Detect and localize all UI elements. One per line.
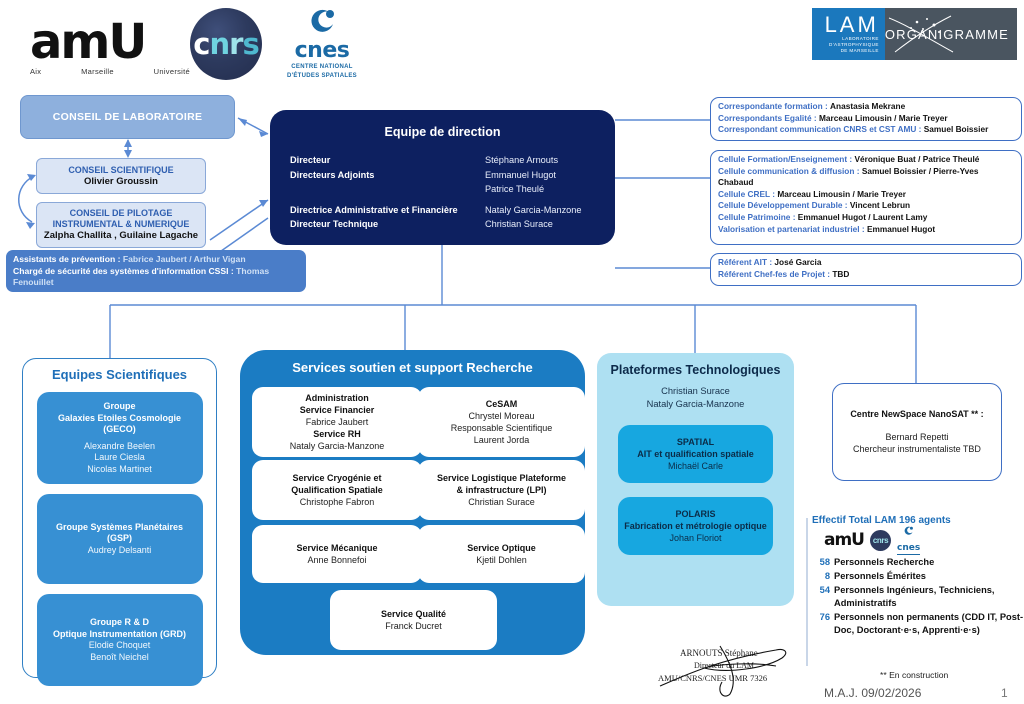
signature-org: AMU/CNRS/CNES UMR 7326 bbox=[658, 673, 767, 683]
referent-value: TBD bbox=[832, 269, 849, 279]
lam-wordmark: LAM bbox=[825, 14, 879, 36]
equipes-scientifiques-box[interactable]: Equipes Scientifiques Groupe Galaxies Et… bbox=[22, 358, 217, 678]
cellule-value: Véronique Buat / Patrice Theulé bbox=[854, 154, 979, 164]
referents-box[interactable]: Référent AIT : José Garcia Référent Chef… bbox=[710, 253, 1022, 286]
service-lpi-card[interactable]: Service Logistique Plateforme & infrastr… bbox=[418, 460, 585, 520]
cnes-logo: cnes CENTRE NATIONAL D'ÉTUDES SPATIALES bbox=[278, 8, 366, 82]
amu-sub-marseille: Marseille bbox=[81, 67, 114, 76]
direction-row: Directeurs AdjointsEmmanuel Hugot bbox=[290, 168, 615, 183]
cellule-row: Cellule Patrimoine : Emmanuel Hugot / La… bbox=[718, 212, 1014, 224]
correspondant-value: Samuel Boissier bbox=[924, 124, 989, 134]
effectif-count: 58 bbox=[812, 556, 830, 569]
lam-subtitle-1: LABORATOIRE D'ASTROPHYSIQUE bbox=[812, 36, 879, 48]
assistants-prevention-line: Assistants de prévention : Fabrice Jaube… bbox=[13, 254, 299, 266]
cssi-label: Chargé de sécurité des systèmes d'inform… bbox=[13, 266, 234, 276]
cellule-row: Cellule CREL : Marceau Limousin / Marie … bbox=[718, 189, 1014, 201]
lam-organigramme-banner: LAM LABORATOIRE D'ASTROPHYSIQUE DE MARSE… bbox=[812, 8, 1017, 60]
cellule-value: Emmanuel Hugot bbox=[867, 224, 935, 234]
groupe-gsp-head: Groupe Systèmes Planétaires (GSP) bbox=[56, 522, 183, 545]
service-mecanique-head: Service Mécanique bbox=[296, 542, 377, 554]
effectif-count: 76 bbox=[812, 611, 830, 637]
equipes-scientifiques-title: Equipes Scientifiques bbox=[23, 367, 216, 382]
effectif-row: 8Personnels Émérites bbox=[812, 570, 1024, 583]
services-soutien-title: Services soutien et support Recherche bbox=[240, 360, 585, 375]
mini-cnes-wordmark: cnes bbox=[897, 543, 920, 555]
plateforme-spatial-card[interactable]: SPATIAL AIT et qualification spatiale Mi… bbox=[618, 425, 773, 483]
service-qualite-card[interactable]: Service Qualité Franck Ducret bbox=[330, 590, 497, 650]
effectif-row: 76Personnels non permanents (CDD IT, Pos… bbox=[812, 611, 1024, 637]
lam-subtitle-2: DE MARSEILLE bbox=[841, 48, 879, 54]
groupe-geco-head: Groupe Galaxies Etoiles Cosmologie (GECO… bbox=[58, 401, 181, 436]
direction-row: Directrice Administrative et FinancièreN… bbox=[290, 203, 615, 218]
groupe-gsp-names: Audrey Delsanti bbox=[88, 545, 152, 557]
mini-cnes-logo: cnes bbox=[897, 526, 920, 555]
cnes-subtitle-1: CENTRE NATIONAL bbox=[278, 64, 366, 71]
centre-newspace-nanosat-box[interactable]: Centre NewSpace NanoSAT ** : Bernard Rep… bbox=[832, 383, 1002, 481]
effectif-row: 54Personnels Ingénieurs, Techniciens, Ad… bbox=[812, 584, 1024, 610]
cellule-value: Marceau Limousin / Marie Treyer bbox=[777, 189, 906, 199]
direction-role: Directeur bbox=[290, 153, 485, 168]
service-optique-head: Service Optique bbox=[467, 542, 536, 554]
effectif-title: Effectif Total LAM 196 agents bbox=[812, 515, 1024, 526]
amu-wordmark: amU bbox=[30, 18, 195, 66]
conseil-pilotage-title-line2: INSTRUMENTAL & NUMERIQUE bbox=[53, 219, 190, 230]
direction-person: Christian Surace bbox=[485, 217, 553, 232]
amu-sub-aix: Aix bbox=[30, 67, 41, 76]
direction-role: Directeurs Adjoints bbox=[290, 168, 485, 183]
direction-role bbox=[290, 182, 485, 197]
service-mecanique-name: Anne Bonnefoi bbox=[307, 554, 366, 566]
groupe-grd-names: Elodie Choquet Benoît Neichel bbox=[89, 640, 151, 663]
service-rh-head: Service RH bbox=[313, 428, 361, 440]
service-administration-name: Fabrice Jaubert bbox=[306, 416, 369, 428]
cnes-mark-icon bbox=[307, 8, 337, 38]
last-update-date: M.A.J. 09/02/2026 bbox=[824, 686, 921, 700]
conseil-de-laboratoire-box[interactable]: CONSEIL DE LABORATOIRE bbox=[20, 95, 235, 139]
direction-rows: DirecteurStéphane Arnouts Directeurs Adj… bbox=[270, 153, 615, 232]
equipe-de-direction-box[interactable]: Equipe de direction DirecteurStéphane Ar… bbox=[270, 110, 615, 245]
amu-logo: amU Aix Marseille Université bbox=[30, 18, 195, 80]
nanosat-title: Centre NewSpace NanoSAT ** : bbox=[850, 409, 983, 419]
cellule-label: Cellule Développement Durable : bbox=[718, 200, 848, 210]
direction-person: Patrice Theulé bbox=[485, 182, 544, 197]
referent-value: José Garcia bbox=[774, 257, 821, 267]
groupe-geco-card[interactable]: Groupe Galaxies Etoiles Cosmologie (GECO… bbox=[37, 392, 203, 484]
direction-person: Stéphane Arnouts bbox=[485, 153, 558, 168]
service-cesam-name: Chrystel Moreau Responsable Scientifique… bbox=[451, 410, 553, 446]
groupe-grd-head: Groupe R & D Optique Instrumentation (GR… bbox=[53, 617, 186, 640]
conseil-scientifique-title: CONSEIL SCIENTIFIQUE bbox=[68, 165, 173, 176]
cnrs-wordmark: cnrs bbox=[193, 30, 258, 59]
cellule-row: Cellule communication & diffusion : Samu… bbox=[718, 166, 1014, 189]
correspondant-row: Correspondant communication CNRS et CST … bbox=[718, 124, 1014, 136]
mini-cnrs-logo: cnrs bbox=[870, 530, 891, 551]
cssi-line: Chargé de sécurité des systèmes d'inform… bbox=[13, 266, 299, 289]
nanosat-names: Bernard Repetti Chercheur instrumentalis… bbox=[853, 431, 981, 456]
director-signature: ARNOUTS Stéphane Directeur du LAM AMU/CN… bbox=[658, 638, 798, 700]
conseil-scientifique-name: Olivier Groussin bbox=[84, 176, 158, 188]
effectif-logos: amU cnrs cnes bbox=[824, 529, 1024, 551]
cellules-box[interactable]: Cellule Formation/Enseignement : Véroniq… bbox=[710, 150, 1022, 245]
amu-sub-universite: Université bbox=[154, 67, 190, 76]
direction-row: Patrice Theulé bbox=[290, 182, 615, 197]
plateforme-polaris-head: POLARIS bbox=[675, 508, 715, 520]
cnrs-logo: cnrs bbox=[190, 8, 262, 80]
groupe-gsp-card[interactable]: Groupe Systèmes Planétaires (GSP) Audrey… bbox=[37, 494, 203, 584]
referent-label: Référent AIT : bbox=[718, 257, 772, 267]
cnes-wordmark: cnes bbox=[278, 40, 366, 62]
organigramme-label-area: ORGANIGRAMME bbox=[885, 8, 1017, 60]
service-administration-head: Administration Service Financier bbox=[300, 392, 375, 416]
cellule-value: Vincent Lebrun bbox=[850, 200, 910, 210]
service-cryogenie-head: Service Cryogénie et Qualification Spati… bbox=[291, 472, 383, 496]
prevention-box[interactable]: Assistants de prévention : Fabrice Jaube… bbox=[6, 250, 306, 292]
plateformes-technologiques-box[interactable]: Plateformes Technologiques Christian Sur… bbox=[597, 353, 794, 606]
service-qualite-head: Service Qualité bbox=[381, 608, 446, 620]
cellule-label: Cellule Patrimoine : bbox=[718, 212, 795, 222]
referent-label: Référent Chef-fes de Projet : bbox=[718, 269, 830, 279]
cellule-row: Cellule Développement Durable : Vincent … bbox=[718, 200, 1014, 212]
groupe-grd-card[interactable]: Groupe R & D Optique Instrumentation (GR… bbox=[37, 594, 203, 686]
plateforme-polaris-card[interactable]: POLARIS Fabrication et métrologie optiqu… bbox=[618, 497, 773, 555]
plateformes-leads: Christian Surace Nataly Garcia-Manzone bbox=[597, 385, 794, 411]
plateforme-polaris-sub: Fabrication et métrologie optique bbox=[624, 520, 767, 532]
effectif-count: 8 bbox=[812, 570, 830, 583]
conseil-pilotage-box[interactable]: CONSEIL DE PILOTAGE INSTRUMENTAL & NUMER… bbox=[36, 202, 206, 248]
correspondant-row: Correspondants Egalité : Marceau Limousi… bbox=[718, 113, 1014, 125]
service-lpi-head: Service Logistique Plateforme & infrastr… bbox=[437, 472, 566, 496]
lam-logo: LAM LABORATOIRE D'ASTROPHYSIQUE DE MARSE… bbox=[812, 8, 885, 60]
effectif-label: Personnels Recherche bbox=[834, 556, 934, 569]
stats-divider bbox=[806, 518, 808, 666]
correspondant-row: Correspondante formation : Anastasia Mek… bbox=[718, 101, 1014, 113]
referent-row: Référent Chef-fes de Projet : TBD bbox=[718, 269, 1014, 281]
groupe-geco-names: Alexandre Beelen Laure Ciesla Nicolas Ma… bbox=[84, 441, 155, 476]
service-lpi-name: Christian Surace bbox=[468, 496, 535, 508]
correspondant-label: Correspondant communication CNRS et CST … bbox=[718, 124, 921, 134]
service-cryogenie-name: Christophe Fabron bbox=[300, 496, 375, 508]
correspondants-box[interactable]: Correspondante formation : Anastasia Mek… bbox=[710, 97, 1022, 141]
correspondant-value: Anastasia Mekrane bbox=[830, 101, 905, 111]
direction-person: Nataly Garcia-Manzone bbox=[485, 203, 582, 218]
effectif-panel: Effectif Total LAM 196 agents amU cnrs c… bbox=[812, 515, 1024, 638]
service-mecanique-card[interactable]: Service Mécanique Anne Bonnefoi bbox=[252, 525, 422, 583]
conseil-pilotage-title-line1: CONSEIL DE PILOTAGE bbox=[70, 208, 173, 219]
direction-person: Emmanuel Hugot bbox=[485, 168, 556, 183]
effectif-row: 58Personnels Recherche bbox=[812, 556, 1024, 569]
cellule-label: Cellule CREL : bbox=[718, 189, 775, 199]
equipe-de-direction-title: Equipe de direction bbox=[270, 125, 615, 139]
direction-row: Directeur TechniqueChristian Surace bbox=[290, 217, 615, 232]
star-swoosh-icon bbox=[887, 12, 957, 56]
cellule-label: Valorisation et partenariat industriel : bbox=[718, 224, 865, 234]
direction-role: Directeur Technique bbox=[290, 217, 485, 232]
service-cesam-head: CeSAM bbox=[486, 398, 518, 410]
plateforme-spatial-sub: AIT et qualification spatiale bbox=[637, 448, 754, 460]
cellule-row: Cellule Formation/Enseignement : Véroniq… bbox=[718, 154, 1014, 166]
assistants-prevention-label: Assistants de prévention : bbox=[13, 254, 120, 264]
cellule-row: Valorisation et partenariat industriel :… bbox=[718, 224, 1014, 236]
plateforme-spatial-head: SPATIAL bbox=[677, 436, 714, 448]
service-rh-name: Nataly Garcia-Manzone bbox=[290, 440, 385, 452]
effectif-count: 54 bbox=[812, 584, 830, 610]
conseil-pilotage-names: Zalpha Challita , Guilaine Lagache bbox=[44, 230, 198, 242]
footnote-en-construction: ** En construction bbox=[880, 670, 948, 680]
cellule-label: Cellule communication & diffusion : bbox=[718, 166, 860, 176]
referent-row: Référent AIT : José Garcia bbox=[718, 257, 1014, 269]
cnes-subtitle-2: D'ÉTUDES SPATIALES bbox=[278, 73, 366, 80]
services-soutien-box[interactable]: Services soutien et support Recherche Ad… bbox=[240, 350, 585, 655]
direction-role: Directrice Administrative et Financière bbox=[290, 203, 485, 218]
cellule-value: Emmanuel Hugot / Laurent Lamy bbox=[798, 212, 928, 222]
page-number: 1 bbox=[1001, 686, 1008, 700]
assistants-prevention-value: Fabrice Jaubert / Arthur Vigan bbox=[123, 254, 246, 264]
plateforme-spatial-name: Michaël Carle bbox=[668, 460, 723, 472]
service-qualite-name: Franck Ducret bbox=[385, 620, 442, 632]
effectif-label: Personnels non permanents (CDD IT, Post-… bbox=[834, 611, 1024, 637]
correspondant-label: Correspondants Egalité : bbox=[718, 113, 817, 123]
mini-amu-logo: amU bbox=[824, 532, 864, 549]
correspondant-value: Marceau Limousin / Marie Treyer bbox=[819, 113, 948, 123]
direction-row: DirecteurStéphane Arnouts bbox=[290, 153, 615, 168]
plateformes-title: Plateformes Technologiques bbox=[597, 363, 794, 377]
service-optique-name: Kjetil Dohlen bbox=[476, 554, 527, 566]
effectif-label: Personnels Ingénieurs, Techniciens, Admi… bbox=[834, 584, 1024, 610]
correspondant-label: Correspondante formation : bbox=[718, 101, 828, 111]
effectif-label: Personnels Émérites bbox=[834, 570, 926, 583]
service-cesam-card[interactable]: CeSAM Chrystel Moreau Responsable Scient… bbox=[418, 387, 585, 457]
conseil-scientifique-box[interactable]: CONSEIL SCIENTIFIQUE Olivier Groussin bbox=[36, 158, 206, 194]
cellule-label: Cellule Formation/Enseignement : bbox=[718, 154, 852, 164]
service-optique-card[interactable]: Service Optique Kjetil Dohlen bbox=[418, 525, 585, 583]
service-administration-card[interactable]: Administration Service Financier Fabrice… bbox=[252, 387, 422, 457]
plateforme-polaris-name: Johan Floriot bbox=[669, 532, 721, 544]
conseil-de-laboratoire-title: CONSEIL DE LABORATOIRE bbox=[53, 111, 203, 123]
service-cryogenie-card[interactable]: Service Cryogénie et Qualification Spati… bbox=[252, 460, 422, 520]
